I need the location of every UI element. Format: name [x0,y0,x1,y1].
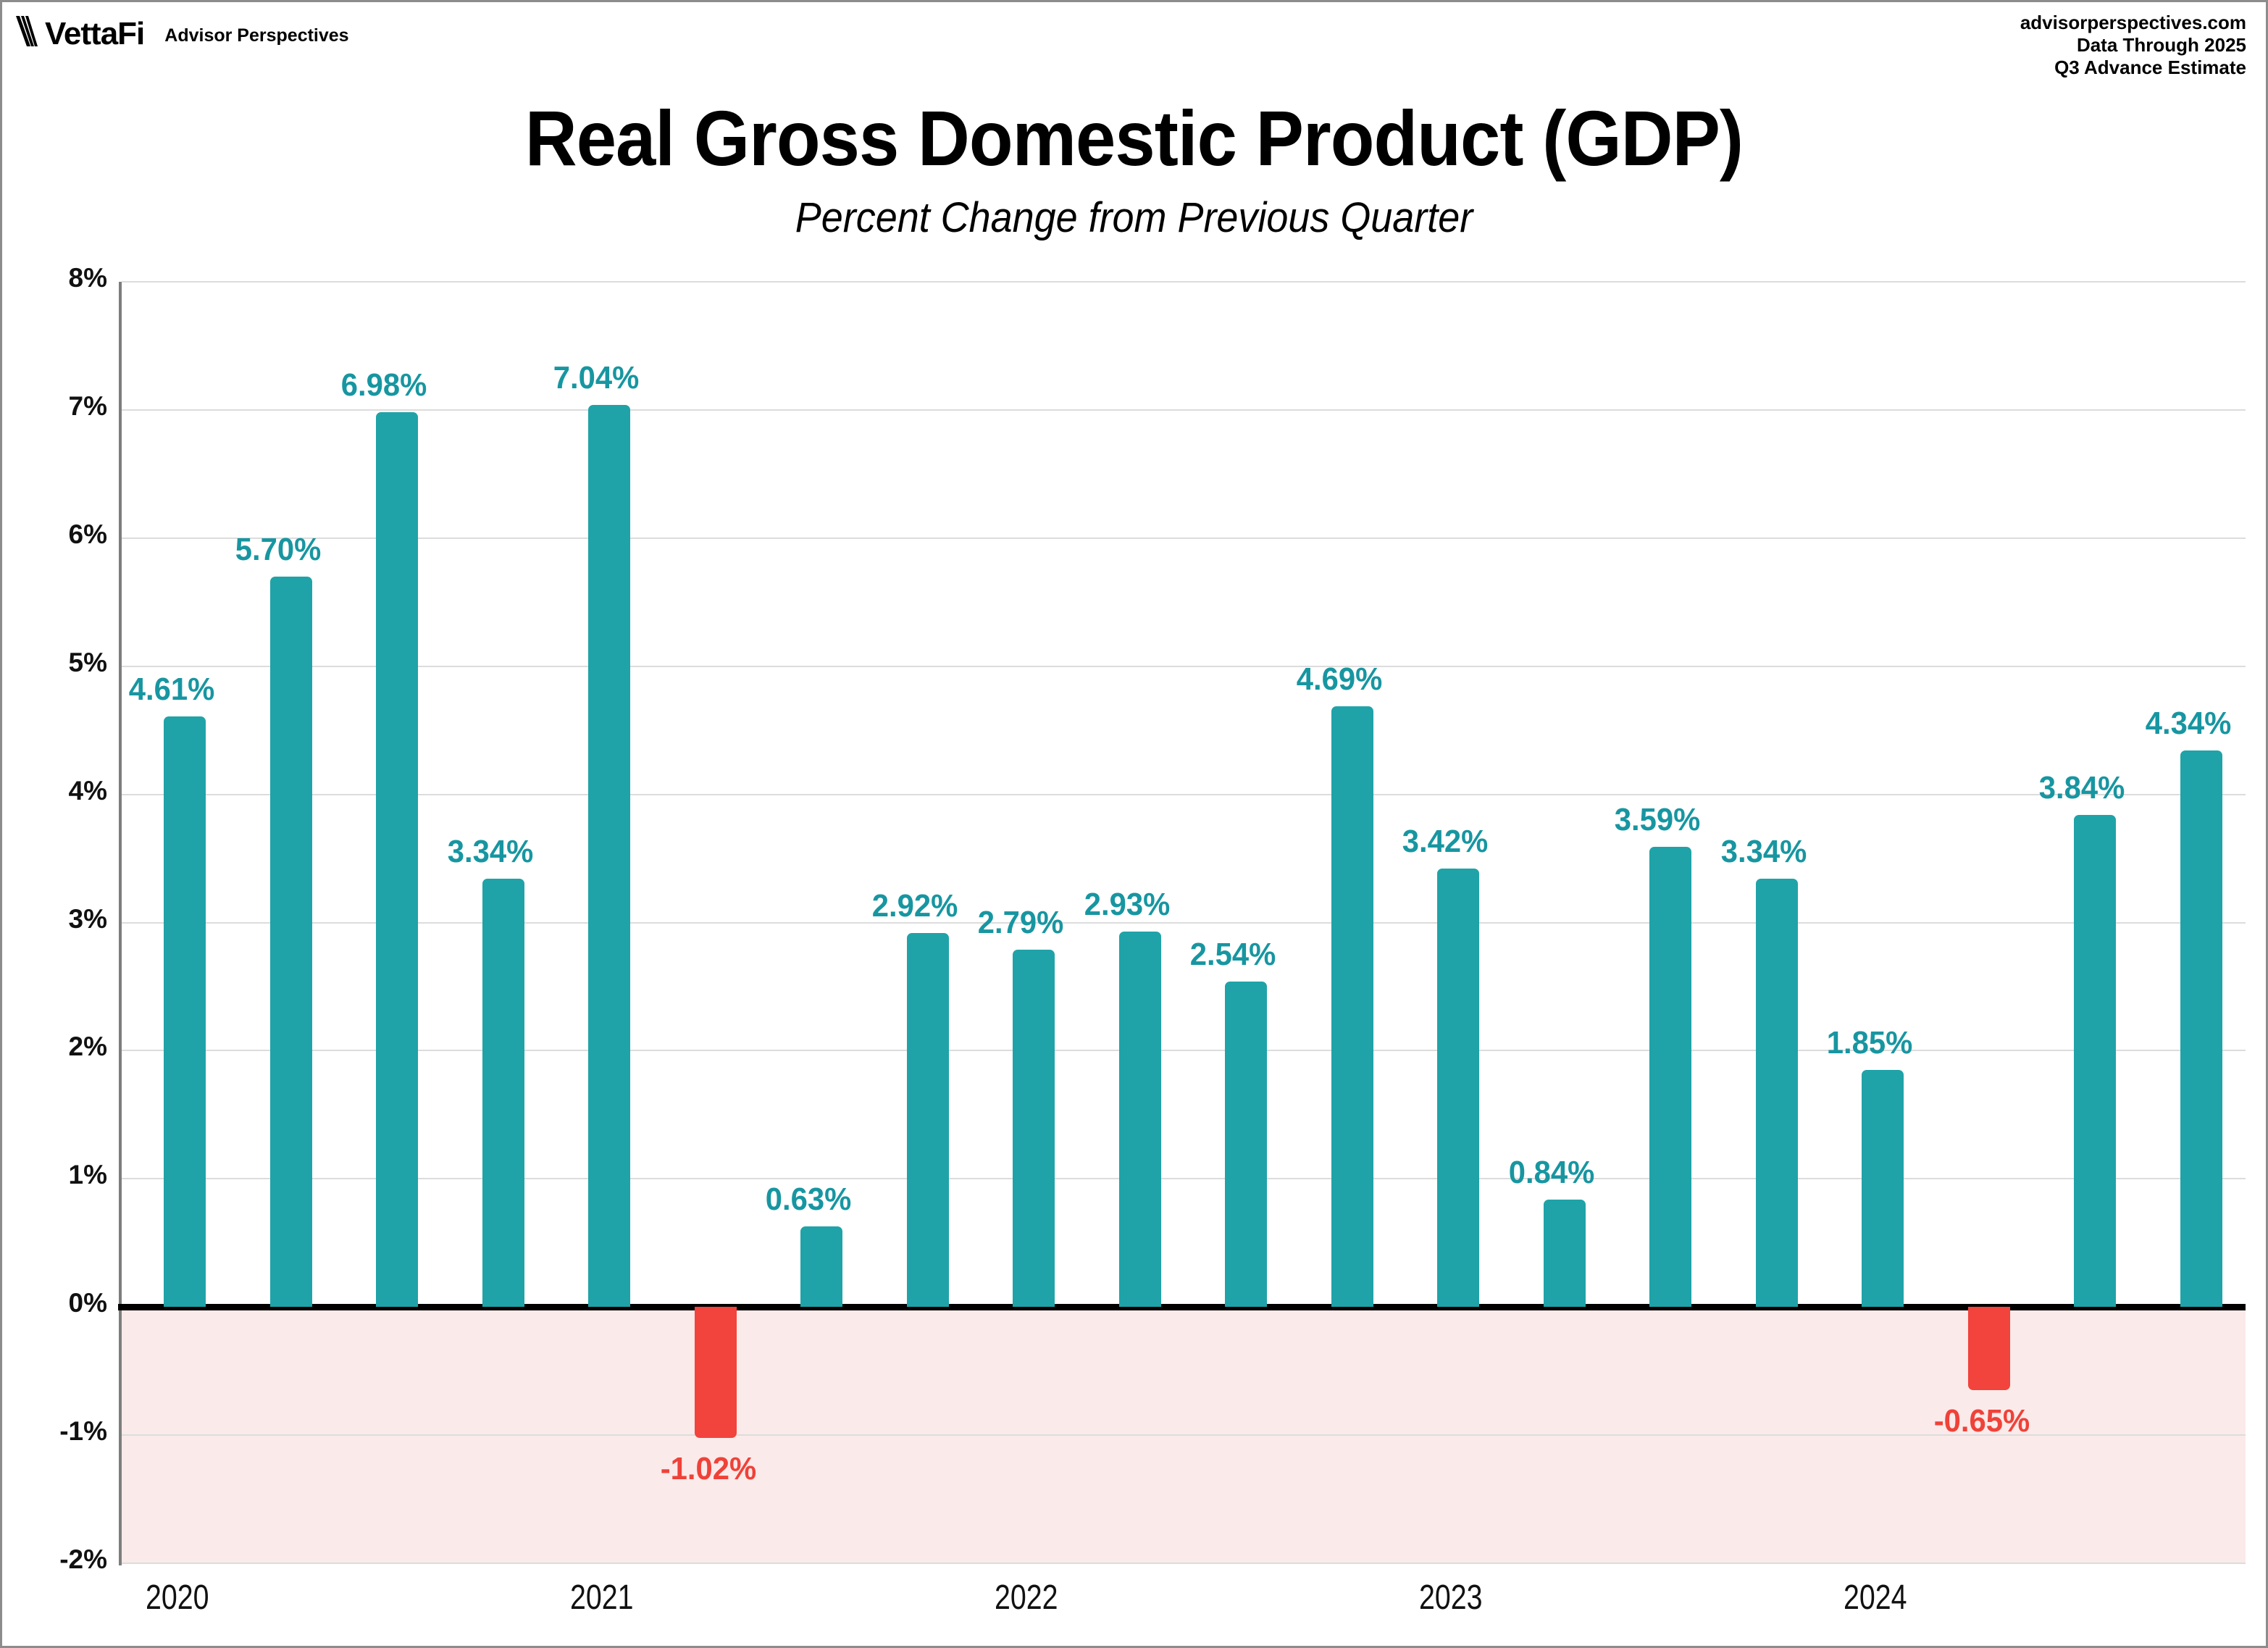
bar-value-label: 4.69% [1281,661,1398,698]
source-meta: advisorperspectives.com Data Through 202… [2020,12,2246,79]
y-axis-tick-label: 2% [0,1032,107,1062]
data-through: Data Through 2025 [2020,34,2246,57]
x-axis-tick-label: 2020 [146,1578,209,1618]
bar [164,716,206,1308]
bar-value-label: 2.93% [1068,887,1186,923]
y-axis-tick-label: 0% [0,1288,107,1318]
bar [1225,982,1267,1307]
gridline [122,794,2246,795]
y-axis-tick-label: 4% [0,776,107,806]
bar-value-label: -1.02% [650,1451,767,1487]
bar-value-label: 4.61% [114,672,231,708]
y-axis-tick-label: -1% [0,1416,107,1447]
bar [800,1226,842,1307]
bar-value-label: 6.98% [326,367,443,403]
bar-value-label: 7.04% [538,360,656,396]
bar [2180,750,2222,1307]
bar-value-label: 3.84% [2024,770,2141,806]
gridline [122,409,2246,411]
gridline [122,538,2246,539]
bar [1756,879,1798,1307]
bar [270,577,312,1307]
gridline [122,1563,2246,1564]
bar [588,405,630,1307]
y-axis-tick-label: -2% [0,1544,107,1575]
bar-value-label: 3.42% [1387,824,1505,860]
bar [482,879,524,1307]
bar-value-label: -0.65% [1923,1403,2041,1439]
y-axis-tick-label: 1% [0,1160,107,1190]
gridline [122,1178,2246,1179]
y-axis-tick-label: 5% [0,648,107,678]
bar [1649,847,1691,1307]
brand-name: VettaFi [45,19,144,49]
bar [907,933,949,1308]
x-axis-tick-label: 2023 [1419,1578,1483,1618]
estimate-note: Q3 Advance Estimate [2020,57,2246,79]
bar [1331,706,1373,1308]
bar [1119,932,1161,1307]
y-axis-tick-label: 6% [0,519,107,550]
bar [1437,869,1479,1307]
vettafi-striped-v-logo [16,16,45,49]
bar [1544,1200,1586,1308]
bar-value-label: 2.54% [1175,937,1292,973]
y-axis-tick-label: 3% [0,904,107,934]
bar-value-label: 0.84% [1493,1155,1610,1191]
gridline [122,281,2246,283]
bar [2074,815,2116,1307]
bar-value-label: 3.34% [1705,834,1823,870]
branding-block: VettaFi Advisor Perspectives [16,16,349,49]
bar-value-label: 1.85% [1812,1025,1929,1061]
x-axis-tick-label: 2024 [1844,1578,1907,1618]
bar [1968,1307,2010,1390]
zero-baseline [118,1304,2246,1310]
chart-title: Real Gross Domestic Product (GDP) [91,93,2177,183]
gridline [122,666,2246,667]
bar-value-label: 2.79% [963,905,1080,941]
bar-value-label: 3.34% [432,834,549,870]
bar-value-label: 0.63% [750,1181,868,1218]
source-url: advisorperspectives.com [2020,12,2246,34]
bar-value-label: 5.70% [219,532,337,568]
x-axis-tick-label: 2022 [995,1578,1058,1618]
plot-area: 8%7%6%5%4%3%2%1%0%-1%-2%4.61%5.70%6.98%3… [122,282,2246,1563]
vettafi-logo: VettaFi [16,16,144,49]
bar-value-label: 4.34% [2130,706,2247,742]
y-axis-tick-label: 7% [0,391,107,422]
publication-name: Advisor Perspectives [164,25,348,46]
bar-value-label: 2.92% [856,888,974,924]
x-axis-tick-label: 2021 [570,1578,634,1618]
bar [695,1307,737,1437]
bar [376,412,418,1307]
y-axis-tick-label: 8% [0,263,107,293]
bar [1013,950,1055,1308]
chart-subtitle: Percent Change from Previous Quarter [80,193,2189,242]
bar [1862,1070,1904,1307]
bar-value-label: 3.59% [1599,802,1717,838]
